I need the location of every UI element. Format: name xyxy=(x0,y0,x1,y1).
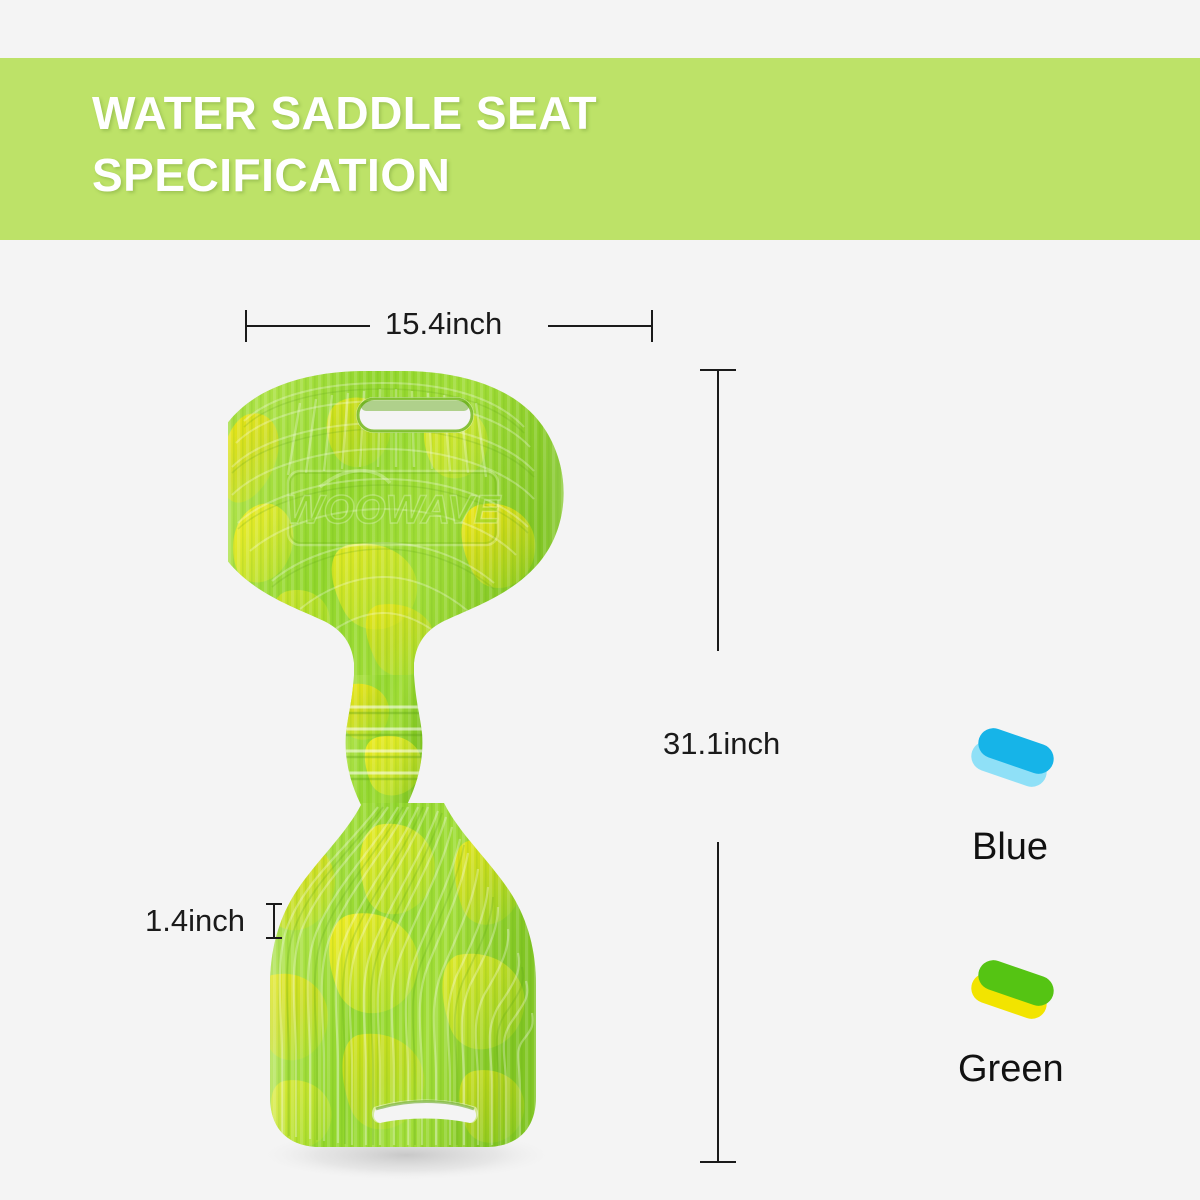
width-dimension-label: 15.4inch xyxy=(385,306,502,342)
specification-page: WATER SADDLE SEAT SPECIFICATION xyxy=(0,0,1200,1200)
height-dimension-label: 31.1inch xyxy=(663,726,780,762)
height-leader-upper xyxy=(717,370,719,651)
thickness-leader xyxy=(273,903,275,939)
header-banner: WATER SADDLE SEAT SPECIFICATION xyxy=(0,58,1200,240)
width-leader-left xyxy=(246,325,370,327)
svg-text:WOOWAVE: WOOWAVE xyxy=(286,488,502,532)
width-leader-right xyxy=(548,325,652,327)
top-handle-slot xyxy=(356,397,474,433)
product-bottom-section xyxy=(248,795,568,1165)
page-title: WATER SADDLE SEAT SPECIFICATION xyxy=(92,82,952,206)
height-leader-lower xyxy=(717,842,719,1162)
product-top-section: WOOWAVE xyxy=(228,355,588,695)
thickness-dimension-label: 1.4inch xyxy=(145,903,245,939)
legend-label-blue: Blue xyxy=(972,826,1048,869)
product-waist-section xyxy=(328,665,448,825)
product-image: WOOWAVE xyxy=(228,355,678,1185)
legend-label-green: Green xyxy=(958,1048,1064,1091)
